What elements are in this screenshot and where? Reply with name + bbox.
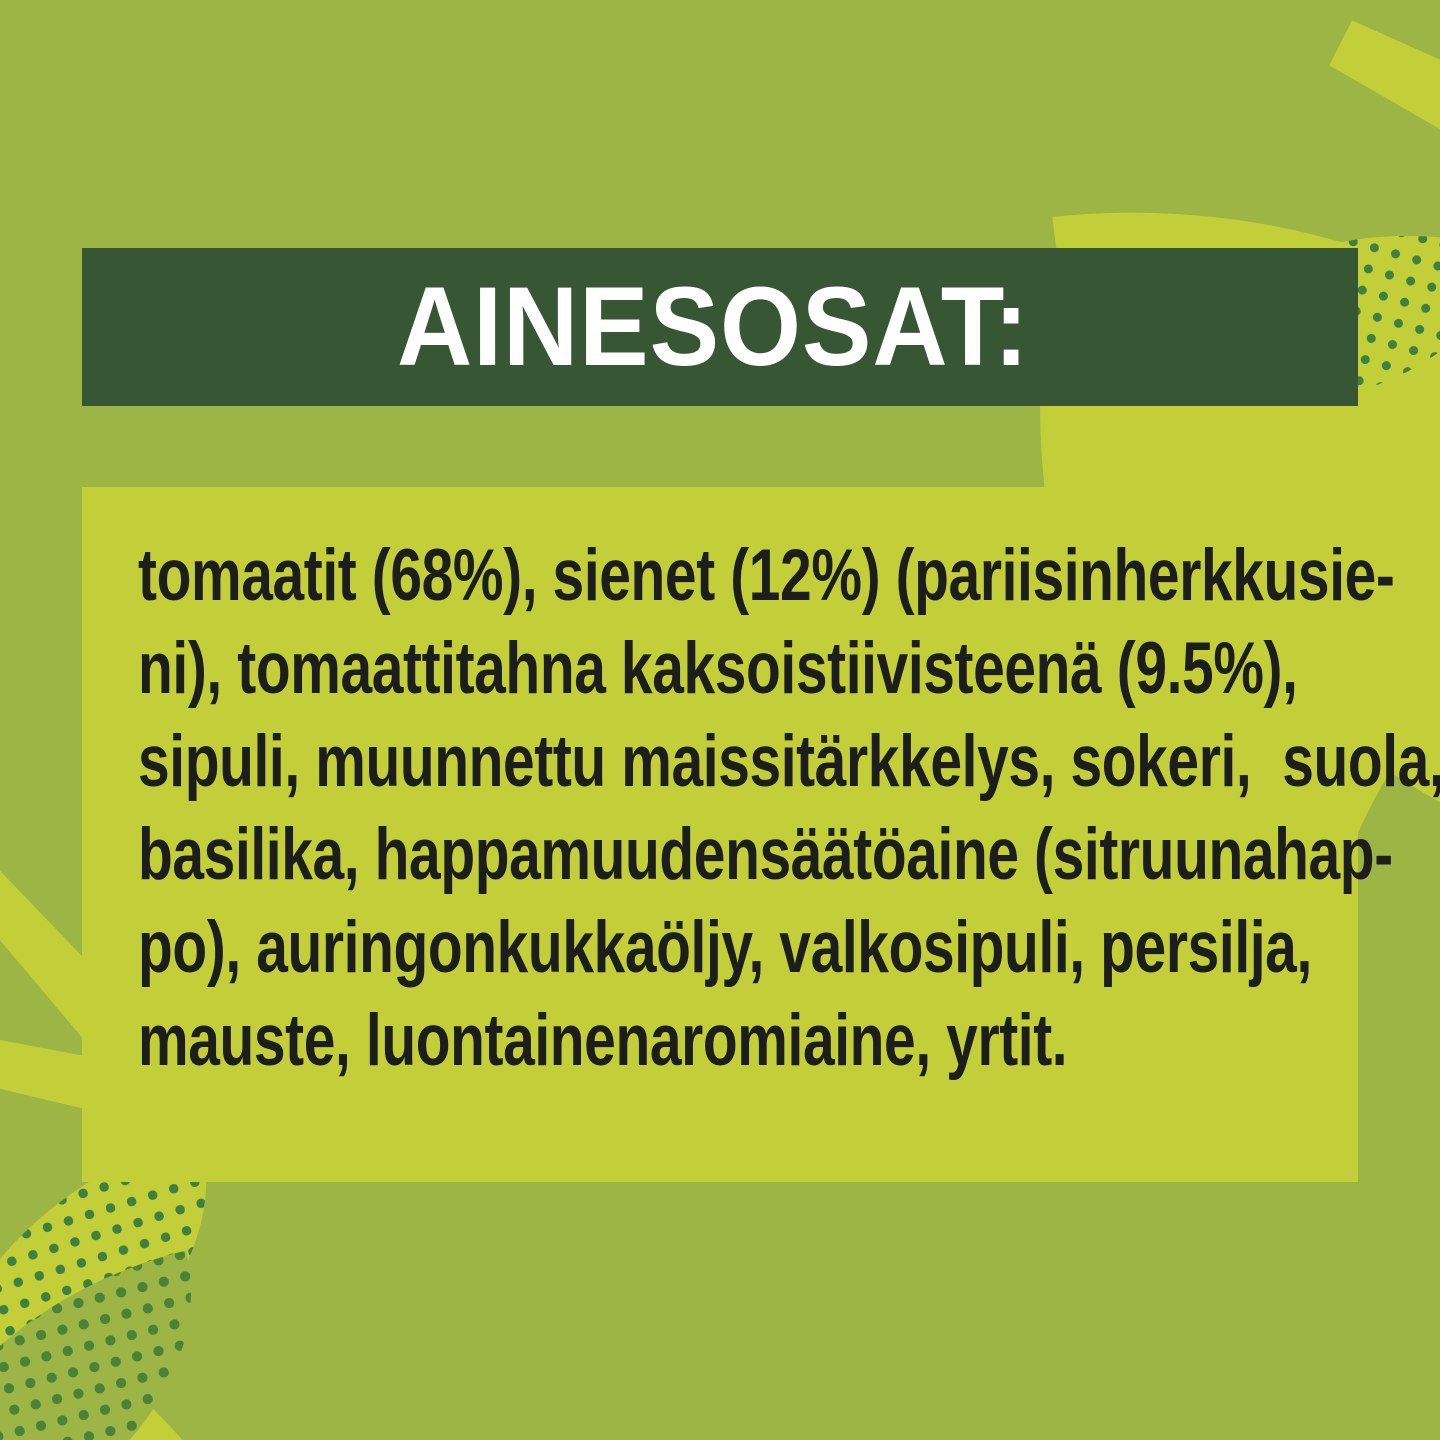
leaf-halftone-bottom-left-lower-icon (0, 1250, 244, 1440)
ingredients-card: AINESOSAT: tomaatit (68%), sienet (12%) … (0, 0, 1440, 1440)
ingredients-line: basilika, happamuudensäätöaine (sitruuna… (138, 808, 1308, 901)
ingredients-line: po), auringonkukkaöljy, valkosipuli, per… (138, 901, 1308, 994)
page-title: AINESOSAT: (397, 271, 1029, 383)
ingredients-line: sipuli, muunnettu maissitärkkelys, soker… (138, 715, 1308, 808)
banner-header: AINESOSAT: (82, 248, 1358, 406)
ingredients-panel: tomaatit (68%), sienet (12%) (pariisinhe… (82, 487, 1358, 1182)
halftone-dots-pattern (0, 1250, 244, 1440)
ingredients-text: tomaatit (68%), sienet (12%) (pariisinhe… (138, 529, 1308, 1087)
ingredients-line: ni), tomaattitahna kaksoistiivisteenä (9… (138, 622, 1308, 715)
ingredients-line: mauste, luontainenaromiaine, yrtit. (138, 994, 1308, 1087)
curve-bottom-left-icon (0, 1215, 260, 1440)
ingredients-line: tomaatit (68%), sienet (12%) (pariisinhe… (138, 529, 1308, 622)
ray-wedge-top-right-icon (1324, 10, 1440, 180)
